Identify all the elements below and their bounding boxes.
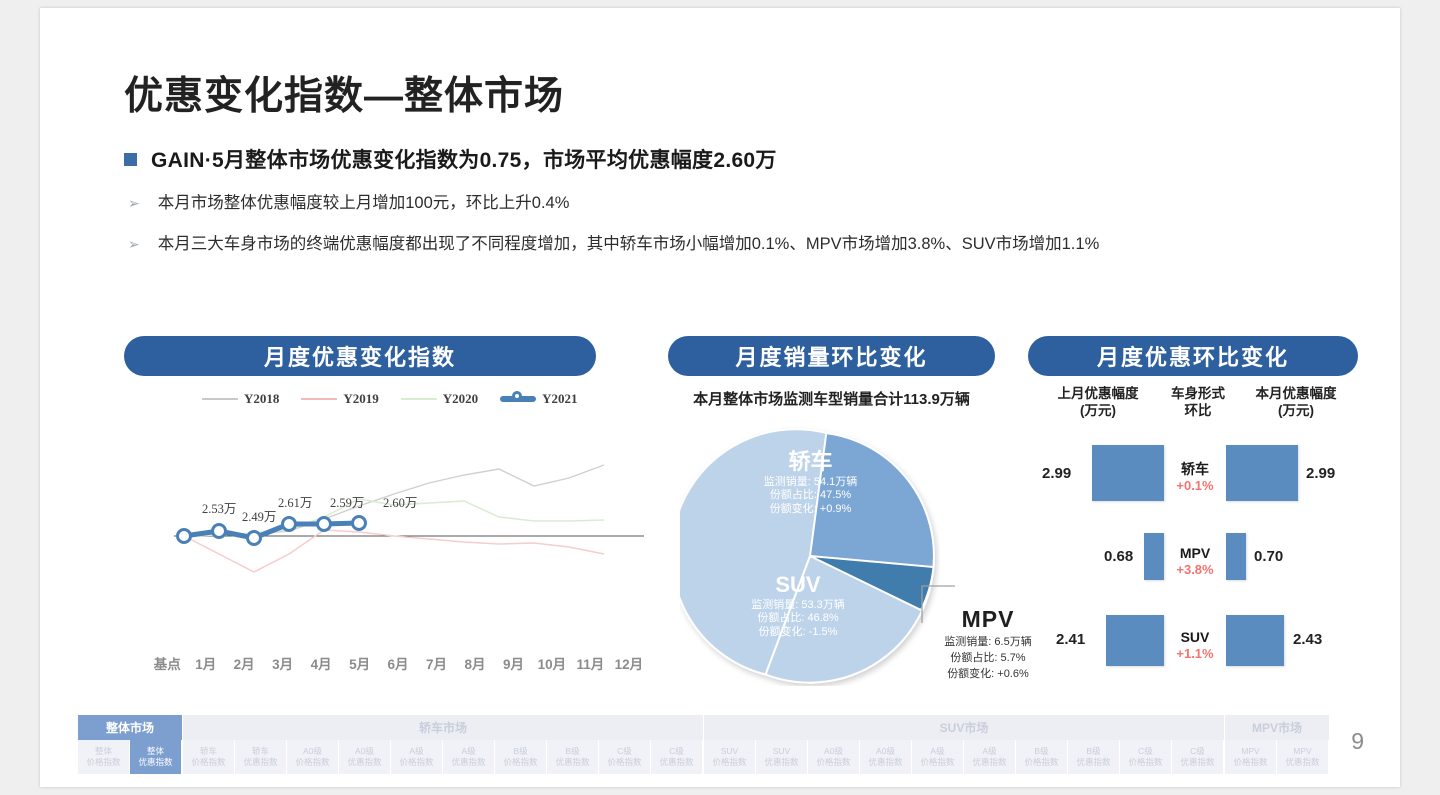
pie-label-suv-change: 份额变化: -1.5% <box>698 626 898 640</box>
nav-cell[interactable]: C级优惠指数 <box>651 740 703 774</box>
xtick-3: 3月 <box>263 653 301 673</box>
legend-item-y2019: Y2019 <box>301 391 378 407</box>
pie-label-suv-share: 份额占比: 46.8% <box>698 612 898 626</box>
sub-bullet-2: ➢ 本月三大车身市场的终端优惠幅度都出现了不同程度增加，其中轿车市场小幅增加0.… <box>128 234 1099 254</box>
nav-cell-line2: 优惠指数 <box>451 757 485 768</box>
xtick-12: 12月 <box>610 653 648 673</box>
nav-group-cells: SUV价格指数SUV优惠指数A0级价格指数A0级优惠指数A级价格指数A级优惠指数… <box>704 740 1225 774</box>
nav-cell-line2: 价格指数 <box>399 757 433 768</box>
xtick-5: 5月 <box>340 653 378 673</box>
nav-cell[interactable]: A0级价格指数 <box>287 740 339 774</box>
nav-cell[interactable]: 轿车价格指数 <box>183 740 235 774</box>
legend-swatch-y2021 <box>500 396 536 402</box>
nav-cell[interactable]: MPV价格指数 <box>1225 740 1277 774</box>
nav-group-header[interactable]: MPV市场 <box>1225 715 1330 740</box>
row-label-suv: SUV +1.1% <box>1164 628 1226 663</box>
nav-group-cells: 轿车价格指数轿车优惠指数A0级价格指数A0级优惠指数A级价格指数A级优惠指数B级… <box>183 740 704 774</box>
row-name-car: 轿车 <box>1160 460 1230 478</box>
nav-cell-line1: B级 <box>513 746 527 757</box>
row-label-mpv: MPV +3.8% <box>1164 544 1226 579</box>
nav-cell-line1: A0级 <box>824 746 843 757</box>
nav-cell-line1: MPV <box>1241 746 1259 757</box>
main-bullet-text: GAIN·5月整体市场优惠变化指数为0.75，市场平均优惠幅度2.60万 <box>151 144 777 174</box>
legend-swatch-y2018 <box>202 398 238 400</box>
nav-cell[interactable]: 整体价格指数 <box>78 740 130 774</box>
nav-cell[interactable]: A级价格指数 <box>391 740 443 774</box>
xtick-9: 9月 <box>494 653 532 673</box>
legend-item-y2020: Y2020 <box>401 391 478 407</box>
column-header-curr-line2: (万元) <box>1236 403 1356 420</box>
column-header-curr-month: 本月优惠幅度 (万元) <box>1236 386 1356 420</box>
nav-cell-line1: MPV <box>1293 746 1311 757</box>
nav-cell-line2: 价格指数 <box>1024 757 1058 768</box>
nav-cell-line1: C级 <box>1190 746 1205 757</box>
nav-cell-line2: 优惠指数 <box>1180 757 1214 768</box>
pie-label-mpv-sales: 监测销量: 6.5万辆 <box>918 633 1058 649</box>
panel-title-tornado-chart: 月度优惠环比变化 <box>1028 336 1358 376</box>
point-label-5: 2.60万 <box>383 492 417 511</box>
nav-cell-line1: A0级 <box>355 746 374 757</box>
nav-group-3: MPV市场MPV价格指数MPV优惠指数 <box>1225 715 1330 774</box>
nav-cell[interactable]: SUV价格指数 <box>704 740 756 774</box>
xtick-4: 4月 <box>302 653 340 673</box>
nav-cell[interactable]: A0级优惠指数 <box>339 740 391 774</box>
xtick-2: 2月 <box>225 653 263 673</box>
point-label-4: 2.59万 <box>330 492 364 511</box>
nav-cell[interactable]: A0级优惠指数 <box>860 740 912 774</box>
pie-label-car-change: 份额变化: +0.9% <box>708 503 913 517</box>
legend-label-y2019: Y2019 <box>343 391 378 407</box>
bar-curr-mpv <box>1226 533 1246 580</box>
point-label-2: 2.49万 <box>242 506 276 525</box>
bar-curr-suv <box>1226 615 1284 666</box>
nav-cell-line1: SUV <box>773 746 790 757</box>
nav-cell-line1: C级 <box>1138 746 1153 757</box>
nav-cell-line1: A0级 <box>876 746 895 757</box>
value-prev-suv: 2.41 <box>1056 631 1085 648</box>
nav-cell-line2: 价格指数 <box>816 757 850 768</box>
nav-cell-line1: C级 <box>669 746 684 757</box>
nav-cell-line1: B级 <box>1034 746 1048 757</box>
legend-label-y2021: Y2021 <box>542 391 577 407</box>
nav-cell-line2: 价格指数 <box>712 757 746 768</box>
value-prev-mpv: 0.68 <box>1104 548 1133 565</box>
legend-label-y2020: Y2020 <box>443 391 478 407</box>
line-chart-plot: 2.53万 2.49万 2.61万 2.59万 2.60万 <box>174 438 644 628</box>
pie-label-suv-title: SUV <box>698 571 898 599</box>
nav-cell-line1: C级 <box>617 746 632 757</box>
nav-cell-line1: 轿车 <box>200 746 217 757</box>
pie-label-mpv-title: MPV <box>918 606 1058 633</box>
nav-cell-line2: 价格指数 <box>503 757 537 768</box>
xtick-6: 6月 <box>379 653 417 673</box>
nav-cell-line2: 价格指数 <box>1233 757 1267 768</box>
legend-swatch-y2019 <box>301 398 337 400</box>
row-name-suv: SUV <box>1164 628 1226 646</box>
nav-cell-line2: 优惠指数 <box>764 757 798 768</box>
panel-title-line-chart: 月度优惠变化指数 <box>124 336 596 376</box>
sub-bullet-2-text: 本月三大车身市场的终端优惠幅度都出现了不同程度增加，其中轿车市场小幅增加0.1%… <box>158 234 1100 254</box>
point-label-3: 2.61万 <box>278 492 312 511</box>
nav-cell[interactable]: C级优惠指数 <box>1172 740 1224 774</box>
pie-label-car-sales: 监测销量: 54.1万辆 <box>708 476 913 490</box>
pie-label-car-share: 份额占比: 47.5% <box>708 489 913 503</box>
nav-cell-line2: 价格指数 <box>920 757 954 768</box>
nav-cell[interactable]: B级价格指数 <box>1016 740 1068 774</box>
nav-cell-line1: B级 <box>1086 746 1100 757</box>
arrow-bullet-icon: ➢ <box>128 193 140 213</box>
nav-cell-line2: 优惠指数 <box>555 757 589 768</box>
xtick-0: 基点 <box>148 653 186 673</box>
nav-cell[interactable]: B级优惠指数 <box>547 740 599 774</box>
nav-cell-line2: 优惠指数 <box>659 757 693 768</box>
legend-label-y2018: Y2018 <box>244 391 279 407</box>
row-name-mpv: MPV <box>1164 544 1226 562</box>
nav-cell-line1: A级 <box>982 746 996 757</box>
nav-cell-line2: 价格指数 <box>1128 757 1162 768</box>
bar-prev-car <box>1092 445 1164 501</box>
nav-cell-line2: 优惠指数 <box>1076 757 1110 768</box>
nav-group-cells: MPV价格指数MPV优惠指数 <box>1225 740 1330 774</box>
xtick-10: 10月 <box>533 653 571 673</box>
nav-cell-line1: A级 <box>409 746 423 757</box>
nav-cell-line1: A0级 <box>303 746 322 757</box>
value-curr-mpv: 0.70 <box>1254 548 1283 565</box>
value-curr-car: 2.99 <box>1306 465 1335 482</box>
bar-curr-car <box>1226 445 1298 501</box>
nav-cell-line2: 优惠指数 <box>243 757 277 768</box>
nav-cell-line2: 优惠指数 <box>868 757 902 768</box>
nav-cell-line1: B级 <box>565 746 579 757</box>
legend-item-y2021: Y2021 <box>500 391 577 407</box>
line-chart-svg <box>174 438 644 628</box>
nav-cell[interactable]: A0级价格指数 <box>808 740 860 774</box>
nav-group-header[interactable]: 整体市场 <box>78 715 183 740</box>
nav-group-header[interactable]: 轿车市场 <box>183 715 704 740</box>
nav-cell[interactable]: SUV优惠指数 <box>756 740 808 774</box>
nav-cell[interactable]: 轿车优惠指数 <box>235 740 287 774</box>
nav-cell-line2: 价格指数 <box>191 757 225 768</box>
legend-item-y2018: Y2018 <box>202 391 279 407</box>
nav-cell[interactable]: A级优惠指数 <box>443 740 495 774</box>
xtick-11: 11月 <box>571 653 609 673</box>
row-delta-mpv: +3.8% <box>1164 562 1226 579</box>
bar-prev-mpv <box>1144 533 1164 580</box>
nav-cell-line1: A级 <box>461 746 475 757</box>
bullet-square-icon <box>124 153 137 166</box>
sub-bullet-1: ➢ 本月市场整体优惠幅度较上月增加100元，环比上升0.4% <box>128 193 569 213</box>
sub-bullet-1-text: 本月市场整体优惠幅度较上月增加100元，环比上升0.4% <box>158 193 570 213</box>
row-delta-car: +0.1% <box>1160 478 1230 495</box>
value-curr-suv: 2.43 <box>1293 631 1322 648</box>
column-header-curr-line1: 本月优惠幅度 <box>1236 386 1356 403</box>
main-bullet: GAIN·5月整体市场优惠变化指数为0.75，市场平均优惠幅度2.60万 <box>124 144 777 174</box>
bar-prev-suv <box>1106 615 1164 666</box>
nav-cell[interactable]: B级价格指数 <box>495 740 547 774</box>
nav-cell-line2: 价格指数 <box>295 757 329 768</box>
nav-group-header[interactable]: SUV市场 <box>704 715 1225 740</box>
bottom-nav-bar[interactable]: 整体市场整体价格指数整体优惠指数轿车市场轿车价格指数轿车优惠指数A0级价格指数A… <box>78 715 1330 774</box>
pie-label-mpv-share: 份额占比: 5.7% <box>918 649 1058 665</box>
nav-cell[interactable]: C级价格指数 <box>599 740 651 774</box>
nav-cell-line1: 轿车 <box>252 746 269 757</box>
legend-swatch-y2020 <box>401 398 437 400</box>
nav-cell-line1: SUV <box>721 746 738 757</box>
xtick-7: 7月 <box>417 653 455 673</box>
line-chart-xaxis: 基点 1月 2月 3月 4月 5月 6月 7月 8月 9月 10月 11月 12… <box>148 653 648 673</box>
pie-chart: 轿车 监测销量: 54.1万辆 份额占比: 47.5% 份额变化: +0.9% … <box>680 426 940 686</box>
nav-cell[interactable]: A级价格指数 <box>912 740 964 774</box>
nav-group-cells: 整体价格指数整体优惠指数 <box>78 740 183 774</box>
nav-cell-line1: 整体 <box>147 746 164 757</box>
point-label-1: 2.53万 <box>202 498 236 517</box>
nav-cell-line1: 整体 <box>95 746 112 757</box>
nav-group-1: 轿车市场轿车价格指数轿车优惠指数A0级价格指数A0级优惠指数A级价格指数A级优惠… <box>183 715 704 774</box>
nav-cell-line2: 优惠指数 <box>347 757 381 768</box>
nav-cell-line2: 价格指数 <box>607 757 641 768</box>
pie-subtitle: 本月整体市场监测车型销量合计113.9万辆 <box>668 388 995 409</box>
value-prev-car: 2.99 <box>1042 465 1071 482</box>
nav-cell[interactable]: C级价格指数 <box>1120 740 1172 774</box>
nav-cell-line1: A级 <box>930 746 944 757</box>
nav-cell[interactable]: 整体优惠指数 <box>130 740 182 774</box>
pie-callout-mpv: MPV 监测销量: 6.5万辆 份额占比: 5.7% 份额变化: +0.6% <box>918 606 1058 681</box>
slide-canvas: 优惠变化指数—整体市场 GAIN·5月整体市场优惠变化指数为0.75，市场平均优… <box>40 8 1400 787</box>
row-delta-suv: +1.1% <box>1164 646 1226 663</box>
xtick-8: 8月 <box>456 653 494 673</box>
nav-group-0: 整体市场整体价格指数整体优惠指数 <box>78 715 183 774</box>
nav-cell[interactable]: A级优惠指数 <box>964 740 1016 774</box>
pie-label-suv-sales: 监测销量: 53.3万辆 <box>698 599 898 613</box>
pie-label-car: 轿车 监测销量: 54.1万辆 份额占比: 47.5% 份额变化: +0.9% <box>708 448 913 517</box>
nav-cell-line2: 优惠指数 <box>1285 757 1319 768</box>
nav-cell-line2: 价格指数 <box>86 757 120 768</box>
page-number: 9 <box>1351 728 1364 755</box>
nav-cell-line2: 优惠指数 <box>138 757 172 768</box>
arrow-bullet-icon: ➢ <box>128 234 140 254</box>
panel-title-pie-chart: 月度销量环比变化 <box>668 336 995 376</box>
pie-label-suv: SUV 监测销量: 53.3万辆 份额占比: 46.8% 份额变化: -1.5% <box>698 571 898 640</box>
pie-label-car-title: 轿车 <box>708 448 913 476</box>
page-title: 优惠变化指数—整体市场 <box>124 65 564 121</box>
xtick-1: 1月 <box>186 653 224 673</box>
row-label-car: 轿车 +0.1% <box>1160 460 1230 495</box>
nav-cell-line2: 优惠指数 <box>972 757 1006 768</box>
pie-label-mpv-change: 份额变化: +0.6% <box>918 665 1058 681</box>
nav-cell[interactable]: MPV优惠指数 <box>1277 740 1329 774</box>
line-chart-legend: Y2018 Y2019 Y2020 Y2021 <box>202 391 578 407</box>
nav-cell[interactable]: B级优惠指数 <box>1068 740 1120 774</box>
nav-group-2: SUV市场SUV价格指数SUV优惠指数A0级价格指数A0级优惠指数A级价格指数A… <box>704 715 1225 774</box>
